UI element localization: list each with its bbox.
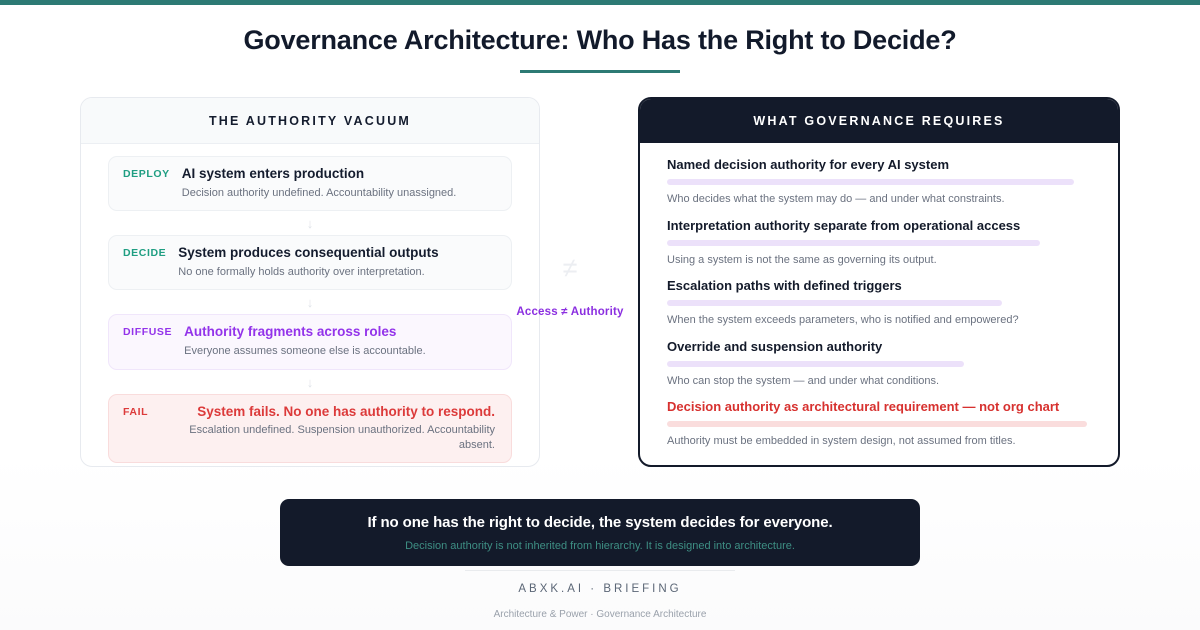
requirement-bar	[667, 240, 1040, 246]
flow-step-fail: FAIL System fails. No one has authority …	[108, 394, 512, 463]
flow-arrow-icon: ↓	[108, 211, 512, 235]
title-block: Governance Architecture: Who Has the Rig…	[0, 24, 1200, 73]
requirement-bar	[667, 361, 964, 367]
requirement-bar	[667, 421, 1087, 427]
requirement-item: Named decision authority for every AI sy…	[667, 157, 1091, 207]
requirement-desc: When the system exceeds parameters, who …	[667, 313, 1091, 327]
requirement-desc: Who decides what the system may do — and…	[667, 192, 1091, 206]
conclusion-banner: If no one has the right to decide, the s…	[280, 499, 920, 566]
requirement-item: Escalation paths with defined triggers W…	[667, 278, 1091, 328]
requirement-title: Override and suspension authority	[667, 339, 1091, 355]
requirement-title: Escalation paths with defined triggers	[667, 278, 1091, 294]
flow-step-diffuse: DIFFUSE Authority fragments across roles…	[108, 314, 512, 369]
footer-brand: ABXK.AI · BRIEFING	[0, 583, 1200, 595]
flow-step-head: System produces consequential outputs	[178, 245, 497, 262]
conclusion-subline: Decision authority is not inherited from…	[405, 540, 795, 552]
flow-step-tag: DIFFUSE	[123, 324, 172, 338]
flow-step-sub: Everyone assumes someone else is account…	[184, 344, 497, 358]
requirement-item: Override and suspension authority Who ca…	[667, 339, 1091, 389]
flow-step-body: AI system enters production Decision aut…	[182, 166, 497, 200]
flow-step-sub: Escalation undefined. Suspension unautho…	[160, 423, 495, 452]
requirement-bar	[667, 179, 1074, 185]
flow-step-tag: DEPLOY	[123, 166, 170, 180]
footer: ABXK.AI · BRIEFING Architecture & Power …	[0, 570, 1200, 620]
requirement-desc: Authority must be embedded in system des…	[667, 434, 1091, 448]
flow-step-body: System produces consequential outputs No…	[178, 245, 497, 279]
requirement-title: Named decision authority for every AI sy…	[667, 157, 1091, 173]
flow-step-head: Authority fragments across roles	[184, 324, 497, 341]
governance-requirements-header: WHAT GOVERNANCE REQUIRES	[640, 99, 1118, 143]
flow-step-decide: DECIDE System produces consequential out…	[108, 235, 512, 290]
requirement-item-highlighted: Decision authority as architectural requ…	[667, 399, 1091, 449]
access-authority-label: Access ≠ Authority	[505, 306, 635, 318]
requirement-title: Decision authority as architectural requ…	[667, 399, 1091, 415]
authority-vacuum-card: THE AUTHORITY VACUUM DEPLOY AI system en…	[80, 97, 540, 467]
requirement-desc: Using a system is not the same as govern…	[667, 253, 1091, 267]
failure-flow: DEPLOY AI system enters production Decis…	[81, 144, 539, 467]
footer-divider	[465, 570, 735, 571]
requirements-list: Named decision authority for every AI sy…	[640, 143, 1118, 449]
flow-step-sub: Decision authority undefined. Accountabi…	[182, 186, 497, 200]
flow-step-head: System fails. No one has authority to re…	[160, 404, 495, 421]
flow-step-sub: No one formally holds authority over int…	[178, 265, 497, 279]
requirement-bar	[667, 300, 1002, 306]
flow-step-deploy: DEPLOY AI system enters production Decis…	[108, 156, 512, 211]
requirement-item: Interpretation authority separate from o…	[667, 218, 1091, 268]
flow-step-tag: DECIDE	[123, 245, 166, 259]
authority-vacuum-header: THE AUTHORITY VACUUM	[81, 98, 539, 144]
footer-subtitle: Architecture & Power · Governance Archit…	[0, 609, 1200, 620]
infographic-page: Governance Architecture: Who Has the Rig…	[0, 0, 1200, 630]
warning-triangle-icon: ⚠	[108, 463, 512, 467]
flow-arrow-icon: ↓	[108, 370, 512, 394]
flow-step-body: System fails. No one has authority to re…	[160, 404, 497, 452]
page-title: Governance Architecture: Who Has the Rig…	[0, 24, 1200, 56]
requirement-desc: Who can stop the system — and under what…	[667, 374, 1091, 388]
authority-vacuum-heading: THE AUTHORITY VACUUM	[209, 114, 411, 128]
flow-step-tag: FAIL	[123, 404, 148, 418]
title-underline	[520, 70, 680, 73]
flow-step-head: AI system enters production	[182, 166, 497, 183]
access-authority-connector: ≠ Access ≠ Authority	[505, 255, 635, 318]
flow-step-body: Authority fragments across roles Everyon…	[184, 324, 497, 358]
requirement-title: Interpretation authority separate from o…	[667, 218, 1091, 234]
not-equal-icon: ≠	[505, 255, 635, 282]
governance-requirements-heading: WHAT GOVERNANCE REQUIRES	[753, 114, 1004, 128]
top-accent-bar	[0, 0, 1200, 5]
conclusion-headline: If no one has the right to decide, the s…	[367, 514, 832, 531]
flow-arrow-icon: ↓	[108, 290, 512, 314]
governance-requirements-card: WHAT GOVERNANCE REQUIRES Named decision …	[638, 97, 1120, 467]
